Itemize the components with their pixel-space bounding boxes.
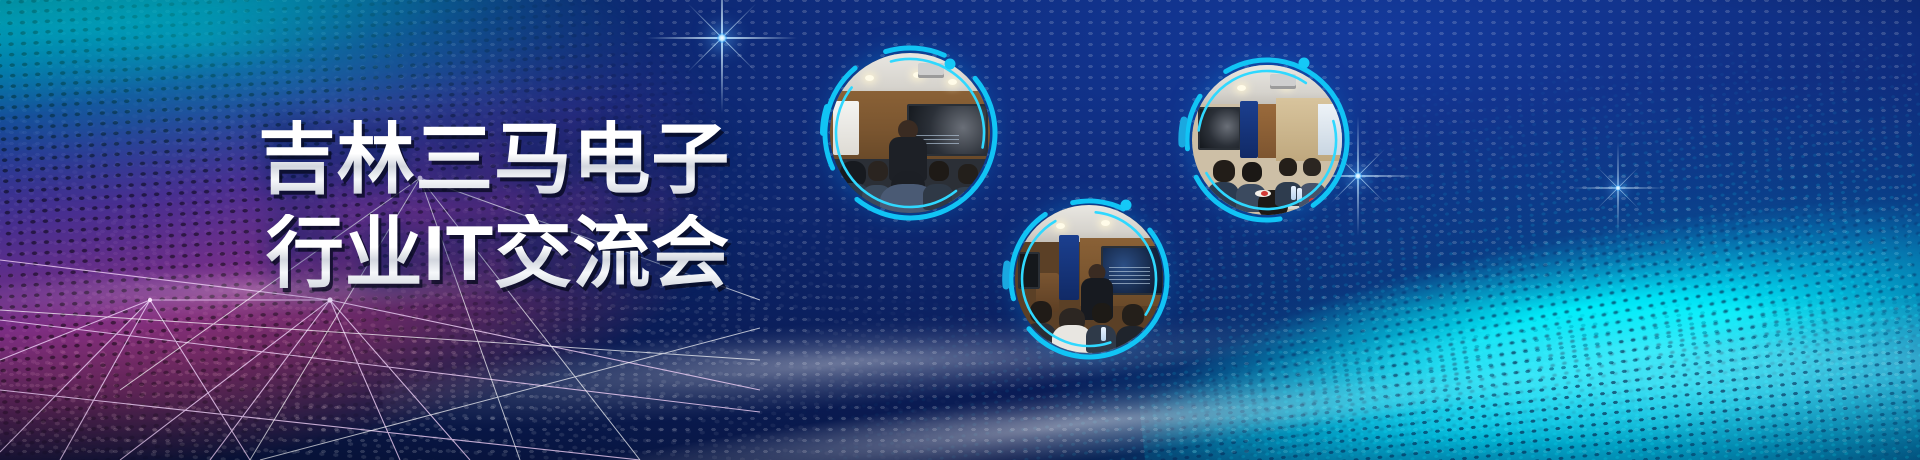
headline-block: 吉林三马电子 行业IT交流会 [258,120,730,293]
promo-banner: 吉林三马电子 行业IT交流会 [0,0,1920,460]
headline-line-2: 行业IT交流会 [266,214,730,294]
medallion-3-tech-ring [1000,190,1178,368]
photo-medallion-1[interactable] [813,36,1007,230]
photo-medallion-2[interactable] [1176,49,1358,231]
medallion-1-tech-ring [813,36,1007,230]
photo-medallion-3[interactable] [1000,190,1178,368]
medallion-2-tech-ring [1176,49,1358,231]
headline-line-1: 吉林三马电子 [258,120,730,200]
